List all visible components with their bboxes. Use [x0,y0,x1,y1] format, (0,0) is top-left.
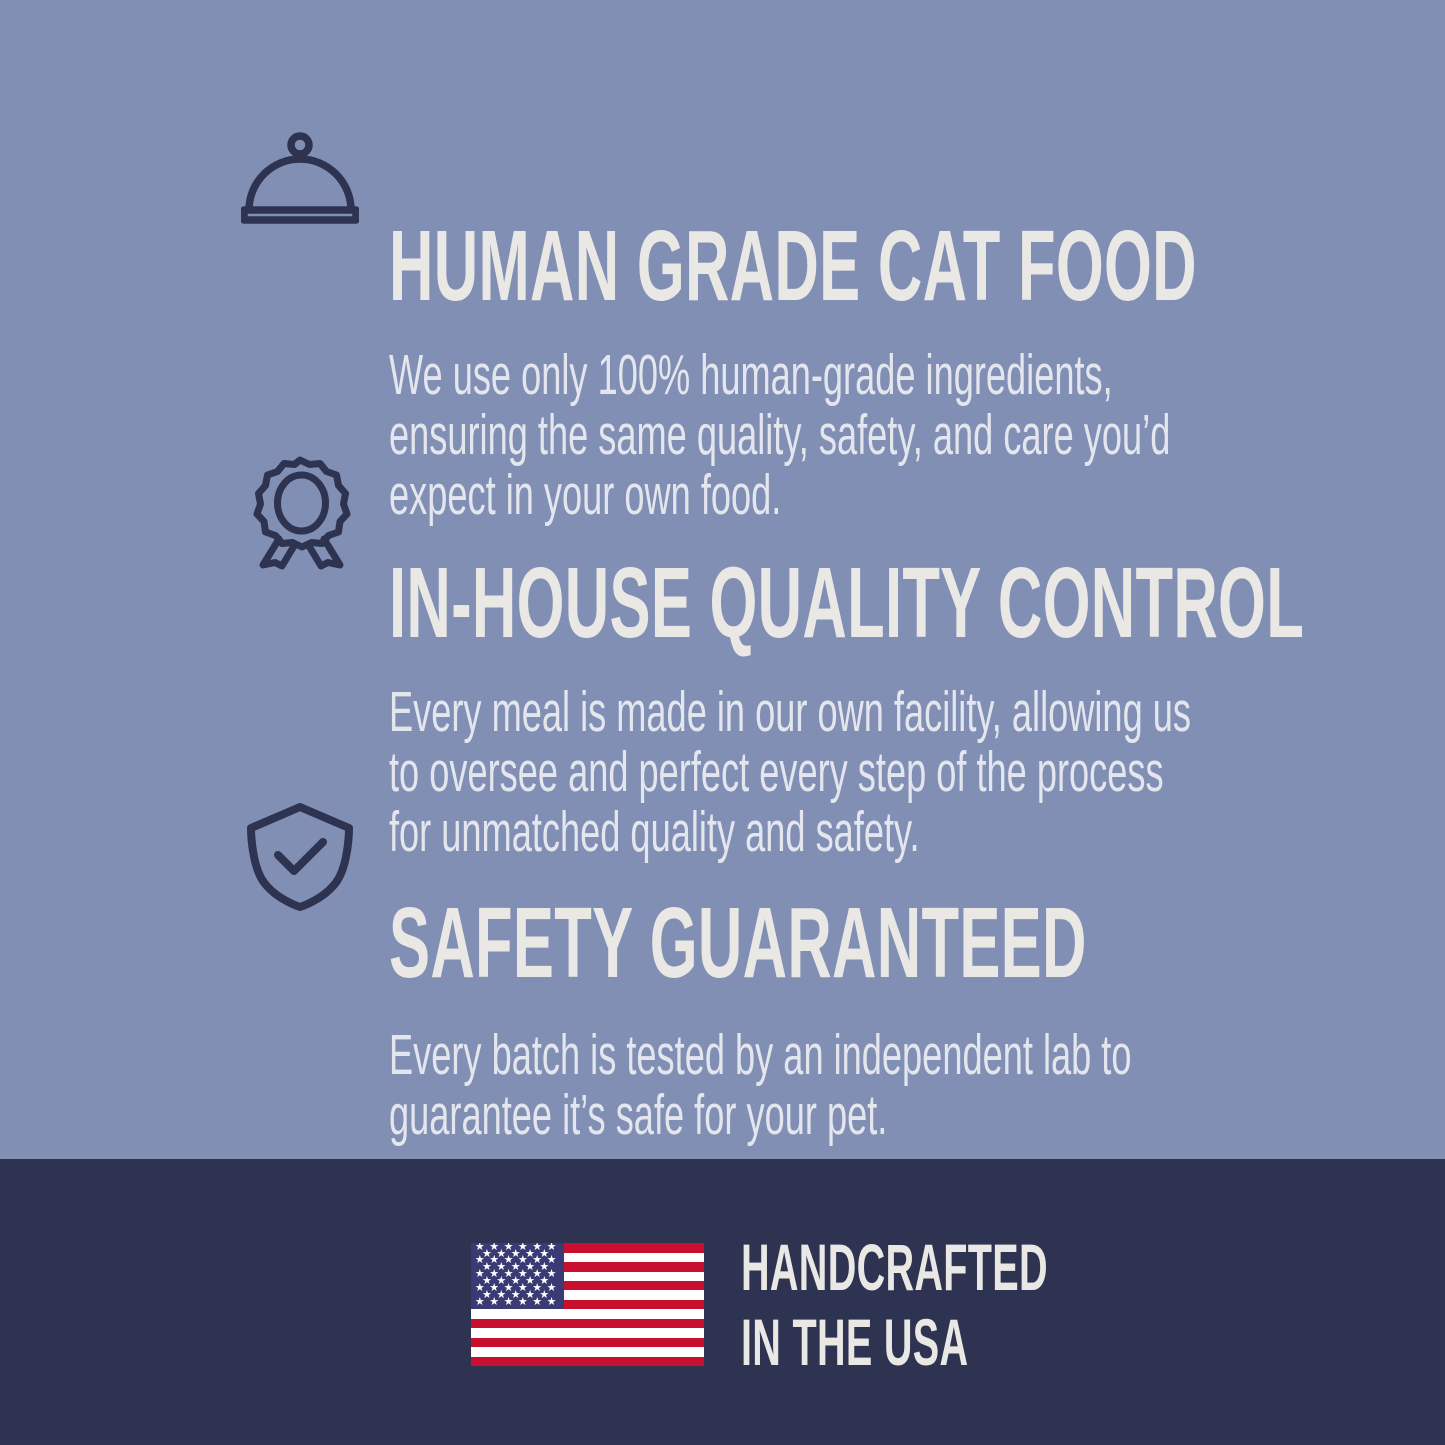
footer-content: ★★★★★★★★★★★★★★★★★★★★★★★★★★★★★★★★★★★★★★★★… [471,1235,1252,1374]
feature-body-line: guarantee it’s safe for your pet. [389,1086,1131,1146]
features-panel: HUMAN GRADE CAT FOOD We use only 100% hu… [0,0,1445,1159]
footer-bar: ★★★★★★★★★★★★★★★★★★★★★★★★★★★★★★★★★★★★★★★★… [0,1159,1445,1445]
footer-line-2: IN THE USA [741,1310,1048,1375]
flag-star: ★ [475,1298,483,1306]
cloche-icon [236,116,364,244]
feature-heading: SAFETY GUARANTEED [389,893,1087,993]
footer-line-1: HANDCRAFTED [741,1235,1048,1300]
flag-star: ★ [532,1298,540,1306]
flag-star: ★ [504,1298,512,1306]
feature-heading: IN-HOUSE QUALITY CONTROL [389,553,1304,653]
handcrafted-usa-text: HANDCRAFTED IN THE USA [741,1235,1252,1374]
feature-body: We use only 100% human-grade ingredients… [389,346,1170,526]
feature-heading: HUMAN GRADE CAT FOOD [389,216,1197,316]
shield-check-icon [236,793,364,921]
flag-stripe [471,1357,704,1366]
flag-star: ★ [547,1298,555,1306]
flag-star: ★ [489,1298,497,1306]
flag-canton: ★★★★★★★★★★★★★★★★★★★★★★★★★★★★★★★★★★★★★★★★… [471,1243,564,1309]
feature-body: Every meal is made in our own facility, … [389,683,1191,863]
flag-star: ★ [518,1298,526,1306]
us-flag-icon: ★★★★★★★★★★★★★★★★★★★★★★★★★★★★★★★★★★★★★★★★… [471,1243,704,1366]
feature-body: Every batch is tested by an independent … [389,1026,1131,1146]
award-ribbon-icon [236,448,364,576]
feature-body-line: Every batch is tested by an independent … [389,1026,1131,1086]
feature-body-line: for unmatched quality and safety. [389,803,1191,863]
feature-body-line: expect in your own food. [389,466,1170,526]
flag-stripe [471,1338,704,1347]
feature-body-line: ensuring the same quality, safety, and c… [389,406,1170,466]
feature-body-line: Every meal is made in our own facility, … [389,683,1191,743]
feature-body-line: to oversee and perfect every step of the… [389,743,1191,803]
feature-body-line: We use only 100% human-grade ingredients… [389,346,1170,406]
flag-stripe [471,1319,704,1328]
